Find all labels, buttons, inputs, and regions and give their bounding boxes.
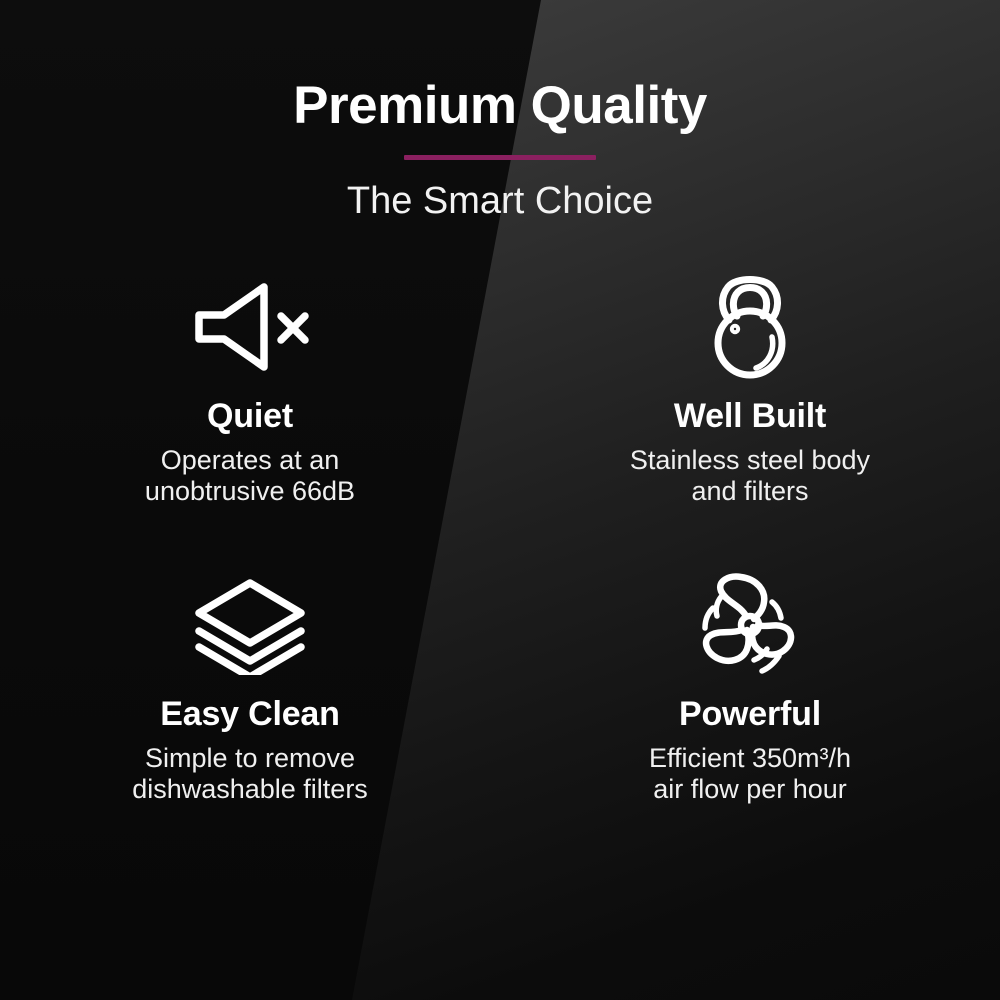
feature-item-powerful: Powerful Efficient 350m³/h air flow per …	[500, 569, 1000, 805]
feature-title: Powerful	[524, 695, 976, 734]
feature-title: Well Built	[524, 397, 976, 436]
feature-description: Stainless steel body and filters	[524, 445, 976, 507]
feature-item-quiet: Quiet Operates at an unobtrusive 66dB	[0, 271, 500, 507]
feature-description: Operates at an unobtrusive 66dB	[24, 445, 476, 507]
layers-stack-icon	[24, 569, 476, 681]
kettlebell-icon	[524, 271, 976, 383]
poster-header: Premium Quality The Smart Choice	[0, 0, 1000, 223]
feature-description: Simple to remove dishwashable filters	[24, 743, 476, 805]
page-title: Premium Quality	[0, 78, 1000, 134]
feature-grid: Quiet Operates at an unobtrusive 66dB We…	[0, 271, 1000, 805]
feature-title: Easy Clean	[24, 695, 476, 734]
speaker-mute-icon	[24, 271, 476, 383]
page-subtitle: The Smart Choice	[0, 180, 1000, 223]
feature-item-easy-clean: Easy Clean Simple to remove dishwashable…	[0, 569, 500, 805]
accent-divider	[404, 155, 596, 160]
fan-icon	[524, 569, 976, 681]
feature-item-well-built: Well Built Stainless steel body and filt…	[500, 271, 1000, 507]
feature-title: Quiet	[24, 397, 476, 436]
poster-content: Premium Quality The Smart Choice Quiet O…	[0, 0, 1000, 1000]
product-feature-poster: Premium Quality The Smart Choice Quiet O…	[0, 0, 1000, 1000]
feature-description: Efficient 350m³/h air flow per hour	[524, 743, 976, 805]
